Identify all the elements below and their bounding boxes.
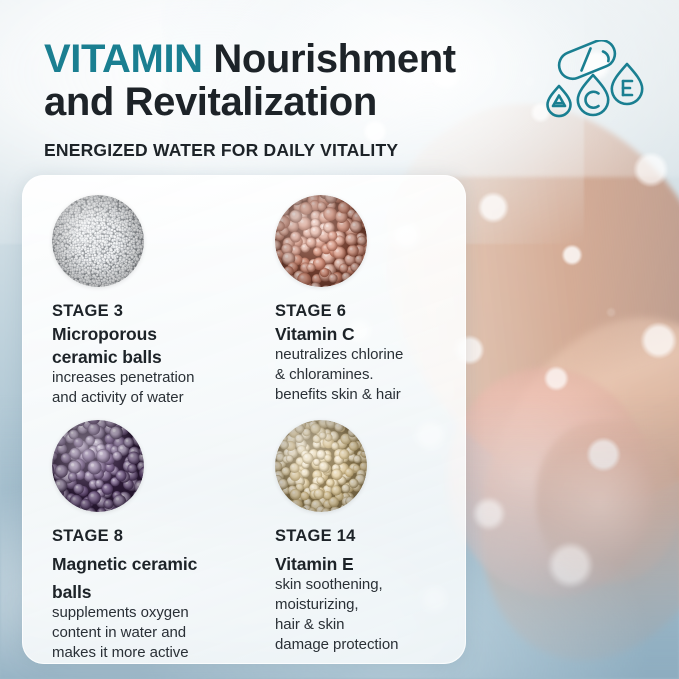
stages-panel: STAGE 3 Microporous ceramic balls increa…: [22, 175, 466, 664]
stage-card-3: STAGE 3 Microporous ceramic balls increa…: [52, 195, 248, 407]
ball-circle-sheen: [52, 195, 144, 287]
stages-grid: STAGE 3 Microporous ceramic balls increa…: [22, 175, 466, 664]
stage-desc-line1: supplements oxygen: [52, 603, 248, 622]
vitamin-icon-cluster: [543, 40, 653, 140]
stage-desc-line1: skin soothening,: [275, 575, 471, 594]
header: VITAMIN Nourishment and Revitalization E…: [44, 38, 564, 161]
stage-desc-line1: neutralizes chlorine: [275, 345, 471, 364]
stage-desc-line2: & chloramines.: [275, 365, 471, 384]
stage-card-8: STAGE 8 Magnetic ceramic balls supplemen…: [52, 420, 248, 662]
ball-circle-sheen: [52, 420, 144, 512]
stage-name-line1: Microporous: [52, 324, 248, 344]
stage-desc-line3: makes it more active: [52, 643, 248, 662]
stage-number-label: STAGE 6: [275, 301, 471, 321]
infographic-root: VITAMIN Nourishment and Revitalization E…: [0, 0, 679, 679]
stage-number-label: STAGE 14: [275, 526, 471, 546]
title-line-2: and Revitalization: [44, 80, 377, 124]
stage-name-line2: ceramic balls: [52, 347, 248, 367]
stage-desc-line1: increases penetration: [52, 368, 248, 387]
vitamin-capsule-icon: [555, 40, 619, 83]
page-subtitle: ENERGIZED WATER FOR DAILY VITALITY: [44, 140, 564, 161]
microporous-ceramic-balls-photo: [52, 195, 144, 287]
stage-card-6: STAGE 6 Vitamin C neutralizes chlorine &…: [275, 195, 471, 404]
stage-number-label: STAGE 3: [52, 301, 248, 321]
stage-desc-line3: benefits skin & hair: [275, 385, 471, 404]
droplet-vitamin-a-icon: [548, 86, 571, 116]
stage-desc-line2: and activity of water: [52, 388, 248, 407]
ball-circle-sheen: [275, 195, 367, 287]
stage-name-line1: Vitamin E: [275, 554, 471, 574]
stage-desc-line2: moisturizing,: [275, 595, 471, 614]
stage-name-line2: balls: [52, 582, 248, 602]
stage-desc-line4: damage protection: [275, 635, 471, 654]
stage-card-14: STAGE 14 Vitamin E skin soothening, mois…: [275, 420, 471, 654]
vitamin-c-balls-photo: [275, 195, 367, 287]
title-accent-word: VITAMIN: [44, 37, 203, 81]
droplet-vitamin-c-icon: [578, 75, 608, 115]
stage-number-label: STAGE 8: [52, 526, 248, 546]
stage-name-line1: Magnetic ceramic: [52, 554, 248, 574]
vitamin-e-balls-photo: [275, 420, 367, 512]
stage-desc-line2: content in water and: [52, 623, 248, 642]
droplet-vitamin-e-icon: [612, 64, 642, 104]
stage-name-line1: Vitamin C: [275, 324, 471, 344]
magnetic-ceramic-balls-photo: [52, 420, 144, 512]
ball-circle-sheen: [275, 420, 367, 512]
stage-desc-line3: hair & skin: [275, 615, 471, 634]
page-title: VITAMIN Nourishment and Revitalization: [44, 38, 564, 124]
title-rest: Nourishment: [203, 37, 456, 81]
